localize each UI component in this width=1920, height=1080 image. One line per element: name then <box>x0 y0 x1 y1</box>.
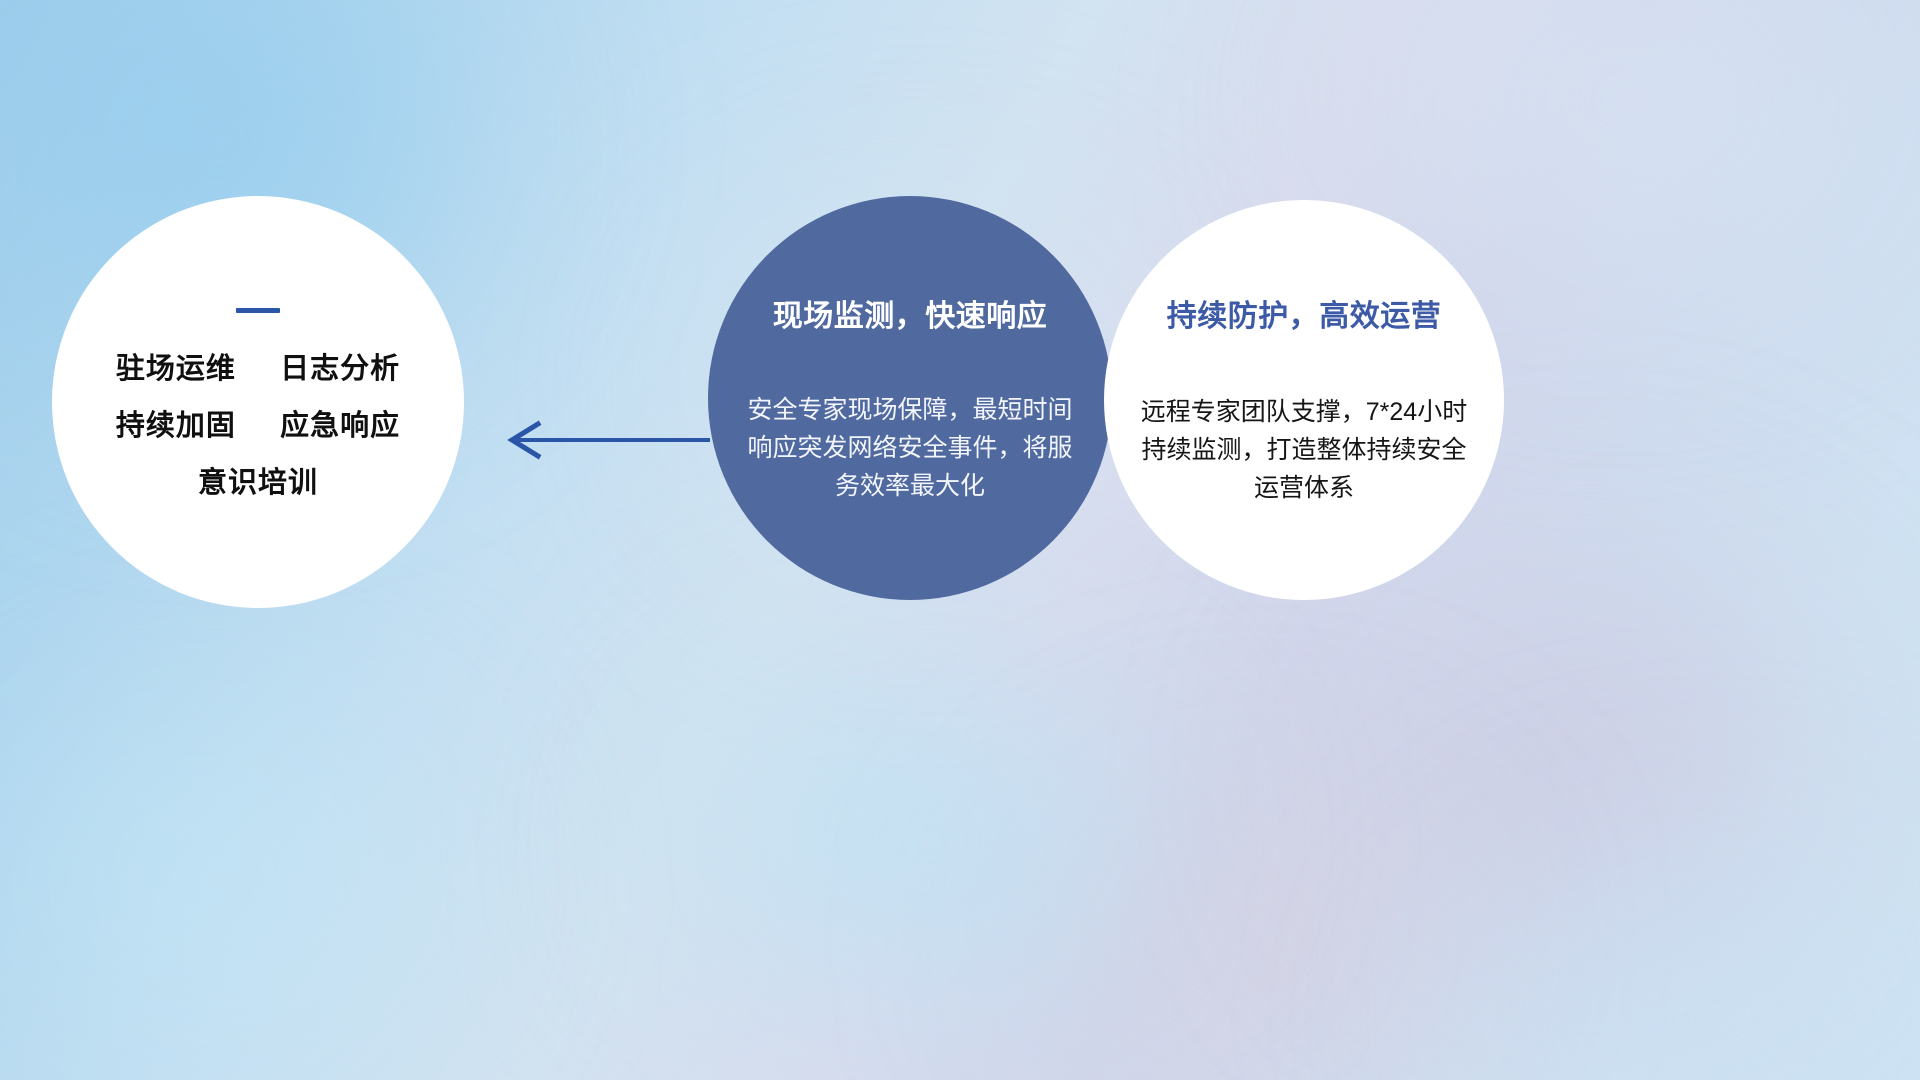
capability-label-onsite-ops: 驻场运维 <box>116 353 236 385</box>
onsite-monitoring-title: 现场监测，快速响应 <box>773 300 1048 333</box>
capability-label-awareness-training: 意识培训 <box>198 467 318 499</box>
slide-canvas: 驻场运维 日志分析 持续加固 应急响应 意识培训 现场监测，快速响应 安全专家现… <box>0 0 1920 1080</box>
arrow-left-icon <box>498 418 710 462</box>
capability-row-2: 持续加固 应急响应 <box>116 412 400 441</box>
capability-row-1: 驻场运维 日志分析 <box>116 355 400 384</box>
continuous-protection-title: 持续防护，高效运营 <box>1167 300 1442 333</box>
capability-label-log-analysis: 日志分析 <box>280 353 400 385</box>
capability-label-emergency-response: 应急响应 <box>280 410 400 442</box>
onsite-monitoring-content: 现场监测，快速响应 安全专家现场保障，最短时间响应突发网络安全事件，将服务效率最… <box>708 196 1112 600</box>
continuous-protection-body: 远程专家团队支撑，7*24小时持续监测，打造整体持续安全运营体系 <box>1130 393 1478 507</box>
onsite-monitoring-body: 安全专家现场保障，最短时间响应突发网络安全事件，将服务效率最大化 <box>745 391 1075 505</box>
continuous-protection-content: 持续防护，高效运营 远程专家团队支撑，7*24小时持续监测，打造整体持续安全运营… <box>1104 200 1504 600</box>
capabilities-content: 驻场运维 日志分析 持续加固 应急响应 意识培训 <box>52 196 464 608</box>
capability-label-continuous-hardening: 持续加固 <box>116 410 236 442</box>
divider-dash <box>236 308 280 313</box>
capability-row-3: 意识培训 <box>198 469 318 498</box>
